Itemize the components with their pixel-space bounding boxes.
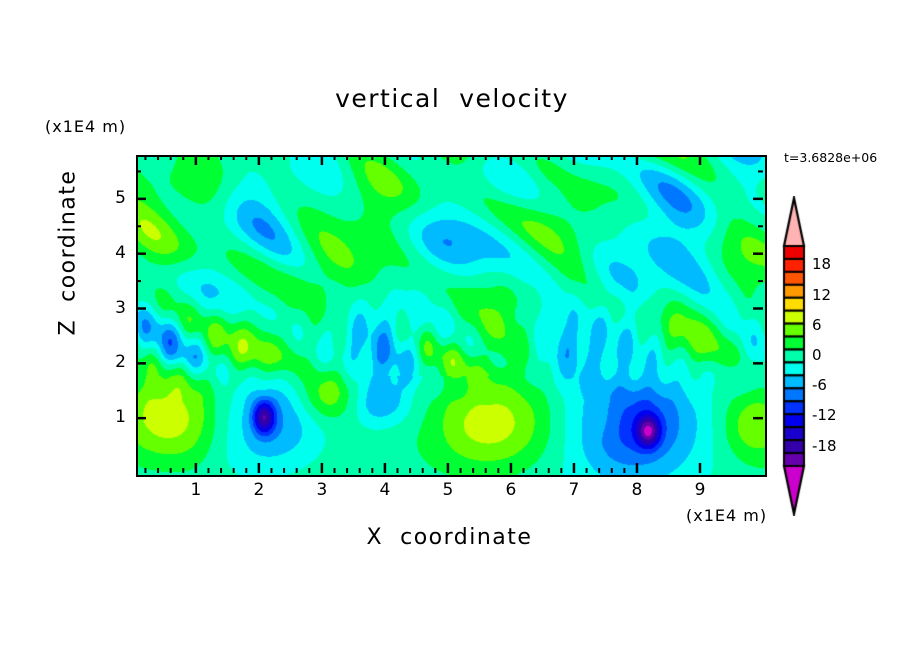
x-axis-unit-label: (x1E4 m) [686,506,767,525]
x-tick-label: 4 [370,480,400,500]
x-tick-label: 3 [307,480,337,500]
x-tick-label: 2 [244,480,274,500]
x-tick-label: 8 [622,480,652,500]
colorbar-tick-label: 0 [812,346,822,364]
figure-root: vertical velocity (x1E4 m) t=3.6828e+06 … [0,0,904,654]
y-tick-label: 4 [100,243,126,263]
y-tick-label: 5 [100,188,126,208]
x-tick-label: 1 [181,480,211,500]
y-axis-unit-label: (x1E4 m) [45,117,126,136]
colorbar-tick-label: 18 [812,255,831,273]
plot-title: vertical velocity [0,84,904,113]
colorbar[interactable] [782,196,806,516]
y-axis-title: Z coordinate [56,153,81,353]
x-tick-label: 5 [433,480,463,500]
x-tick-label: 6 [496,480,526,500]
x-axis-title: X coordinate [136,525,763,550]
y-tick-label: 2 [100,352,126,372]
contour-field-canvas [138,157,765,475]
y-tick-label: 3 [100,298,126,318]
x-tick-label: 9 [685,480,715,500]
colorbar-tick-label: -6 [812,376,827,394]
y-tick-label: 1 [100,407,126,427]
colorbar-tick-label: -12 [812,406,837,424]
time-annotation: t=3.6828e+06 [784,150,877,165]
colorbar-canvas [782,196,806,516]
contour-plot-area[interactable] [136,155,767,477]
x-tick-label: 7 [559,480,589,500]
colorbar-tick-label: 6 [812,316,822,334]
colorbar-tick-label: -18 [812,437,837,455]
colorbar-tick-label: 12 [812,286,831,304]
